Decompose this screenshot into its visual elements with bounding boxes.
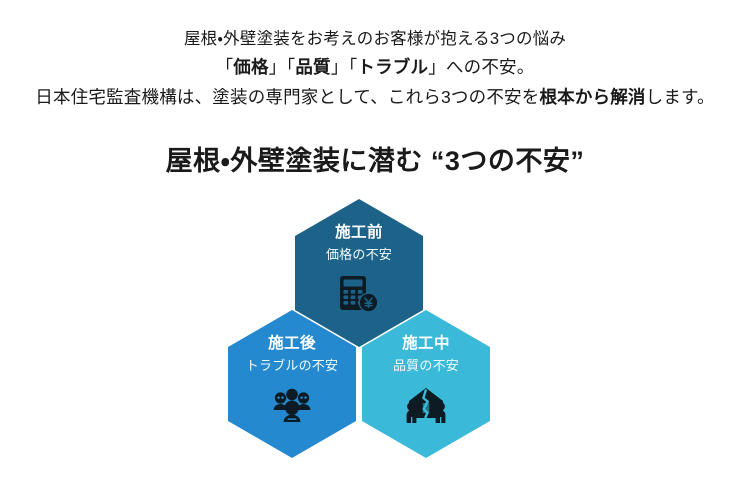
intro-line-3: 日本住宅監査機構は、塗装の専門家として、これら3つの不安を根本から解消します。: [0, 82, 750, 112]
section-title: 屋根・外壁塗装に潜む “3つの不安”: [0, 142, 750, 180]
house-workers-icon: [403, 384, 449, 426]
people-group-icon: [269, 384, 315, 426]
intro-line-2: 「価格」「品質」「トラブル」への不安。: [0, 52, 750, 82]
intro-copy-block: 屋根・外壁塗装をお考えのお客様が抱える3つの悩み 「価格」「品質」「トラブル」へ…: [0, 26, 750, 112]
hexagon-cluster: 施工前 価格の不安: [225, 196, 495, 472]
calculator-yen-icon: [336, 273, 382, 315]
hexagon-during-subtitle: 品質の不安: [393, 356, 459, 375]
hexagon-during-title: 施工中: [402, 334, 450, 354]
hexagon-after-subtitle: トラブルの不安: [246, 356, 338, 375]
hexagon-before-title: 施工前: [335, 223, 383, 243]
intro-line-1: 屋根・外壁塗装をお考えのお客様が抱える3つの悩み: [0, 26, 750, 52]
slide-canvas: 屋根・外壁塗装をお考えのお客様が抱える3つの悩み 「価格」「品質」「トラブル」へ…: [0, 0, 750, 500]
hexagon-before-subtitle: 価格の不安: [326, 245, 392, 264]
hexagon-after-title: 施工後: [268, 334, 316, 354]
